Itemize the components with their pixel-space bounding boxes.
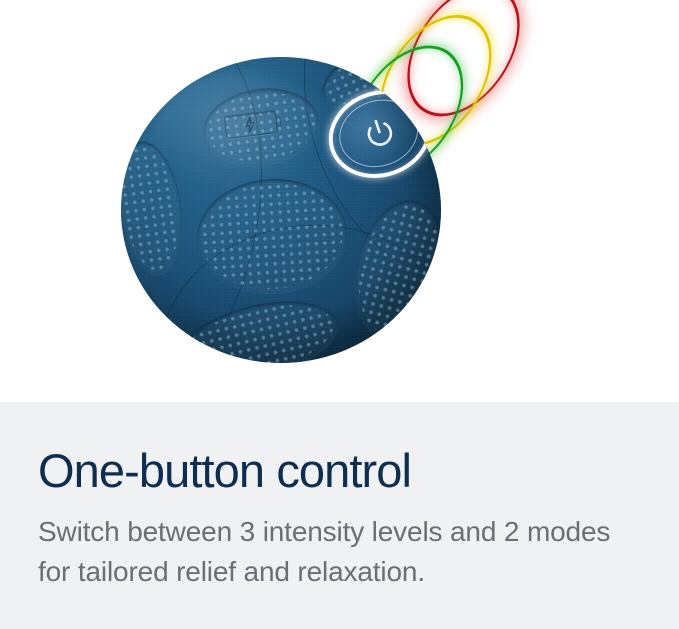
product-stage [0,0,679,402]
massage-ball [121,57,441,363]
ball-body [121,57,441,363]
feature-card: One-button control Switch between 3 inte… [0,0,679,629]
lightning-bolt-icon [241,115,259,134]
feature-description: Switch between 3 intensity levels and 2 … [38,512,638,592]
hero-image-panel [0,0,679,402]
feature-title: One-button control [38,443,648,499]
